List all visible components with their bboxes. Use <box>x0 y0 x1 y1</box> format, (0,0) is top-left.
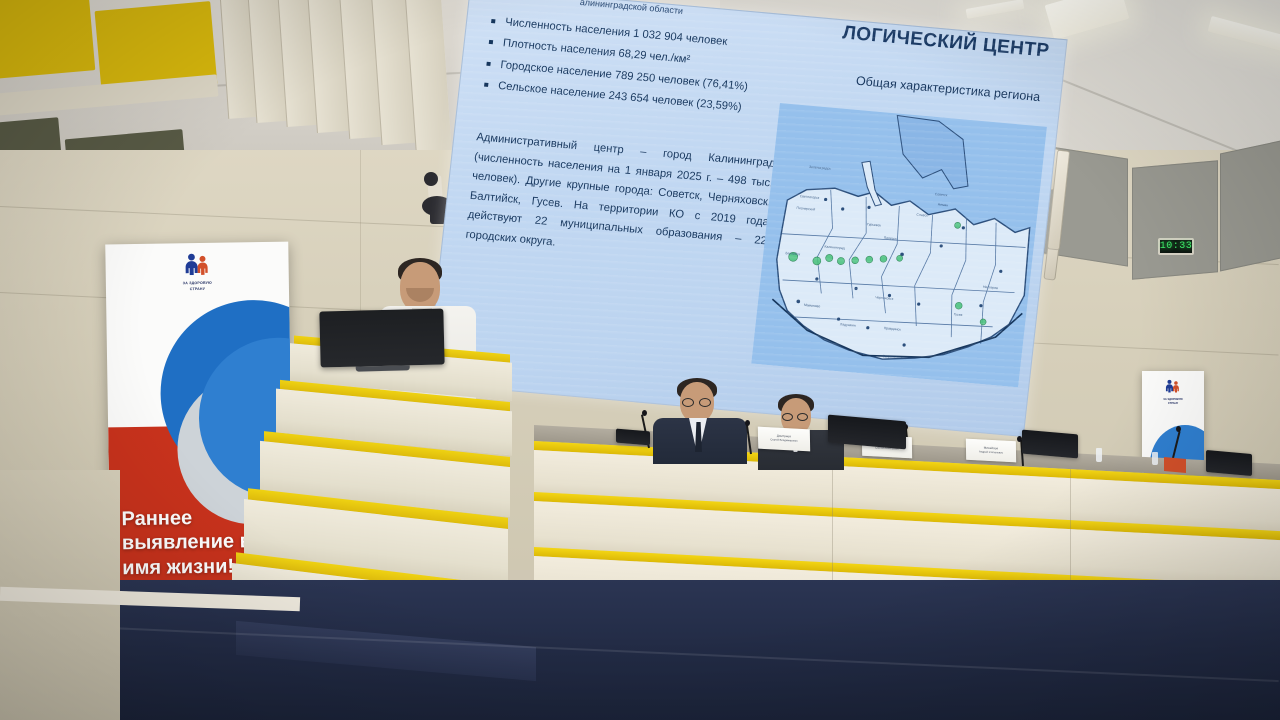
logo-caption-line2: СТРАНУ <box>1153 402 1193 406</box>
podium-monitor <box>319 308 444 367</box>
led-clock-text: 10:33 <box>1160 241 1193 252</box>
slide-surface: алининградской области ЛОГИЧЕСКИЙ ЦЕНТР … <box>426 0 1068 437</box>
microphone-head-icon <box>1176 426 1181 432</box>
microphone-head-icon <box>745 420 750 426</box>
nameplate: Михайлов Андрей Степанович <box>966 439 1016 463</box>
svg-text:Гусев: Гусев <box>954 312 963 317</box>
eyeglasses-icon <box>699 398 711 407</box>
eyeglasses-icon <box>682 398 694 407</box>
nameplate: Дмитриев Сергей Владимирович <box>758 427 810 452</box>
ptz-camera-icon <box>424 172 438 186</box>
presidium-member-left <box>655 378 751 454</box>
eyeglasses-icon <box>782 413 793 421</box>
eyeglasses-icon <box>797 413 808 421</box>
flag-accent <box>1164 457 1186 473</box>
region-map: Зеленоградск Светлогорск Пионерский Балт… <box>751 103 1047 387</box>
led-clock-sign: 10:33 <box>1158 238 1194 255</box>
water-bottle <box>1096 448 1102 462</box>
campaign-logo: ЗА ЗДОРОВУЮ СТРАНУ <box>170 253 225 294</box>
water-bottle <box>1152 452 1158 465</box>
svg-text:Неман: Неман <box>938 202 949 207</box>
projection-screen: алининградской области ЛОГИЧЕСКИЙ ЦЕНТР … <box>426 0 1068 437</box>
laptop-screen <box>616 429 650 446</box>
logo-caption-line1: ЗА ЗДОРОВУЮ <box>170 281 224 287</box>
nameplate-fullname: Сергей Владимирович <box>770 438 797 443</box>
region-map-svg: Зеленоградск Светлогорск Пионерский Балт… <box>751 103 1047 387</box>
two-figures-icon <box>180 253 214 276</box>
slide-paragraph: Административный центр – город Калинингр… <box>465 128 777 272</box>
slide-caption: Общая характеристика региона <box>855 74 1041 104</box>
conference-hall-scene: 10:33 алининградской области ЛОГИЧЕСКИЙ … <box>0 0 1280 720</box>
laptop-screen <box>1206 450 1252 476</box>
laptop-screen <box>1022 430 1078 459</box>
acoustic-panel <box>1132 160 1218 280</box>
two-figures-icon <box>1163 379 1183 393</box>
wall-panel-yellow <box>0 0 95 82</box>
head <box>400 262 440 312</box>
acoustic-panel <box>1220 139 1280 272</box>
slide-bullet-list: Численность населения 1 032 904 человек … <box>481 11 819 125</box>
nameplate-fullname: Андрей Степанович <box>979 450 1003 455</box>
campaign-logo-small: ЗА ЗДОРОВУЮ СТРАНУ <box>1153 379 1193 405</box>
logo-caption-line2: СТРАНУ <box>170 287 224 293</box>
microphone-head-icon <box>642 410 647 416</box>
